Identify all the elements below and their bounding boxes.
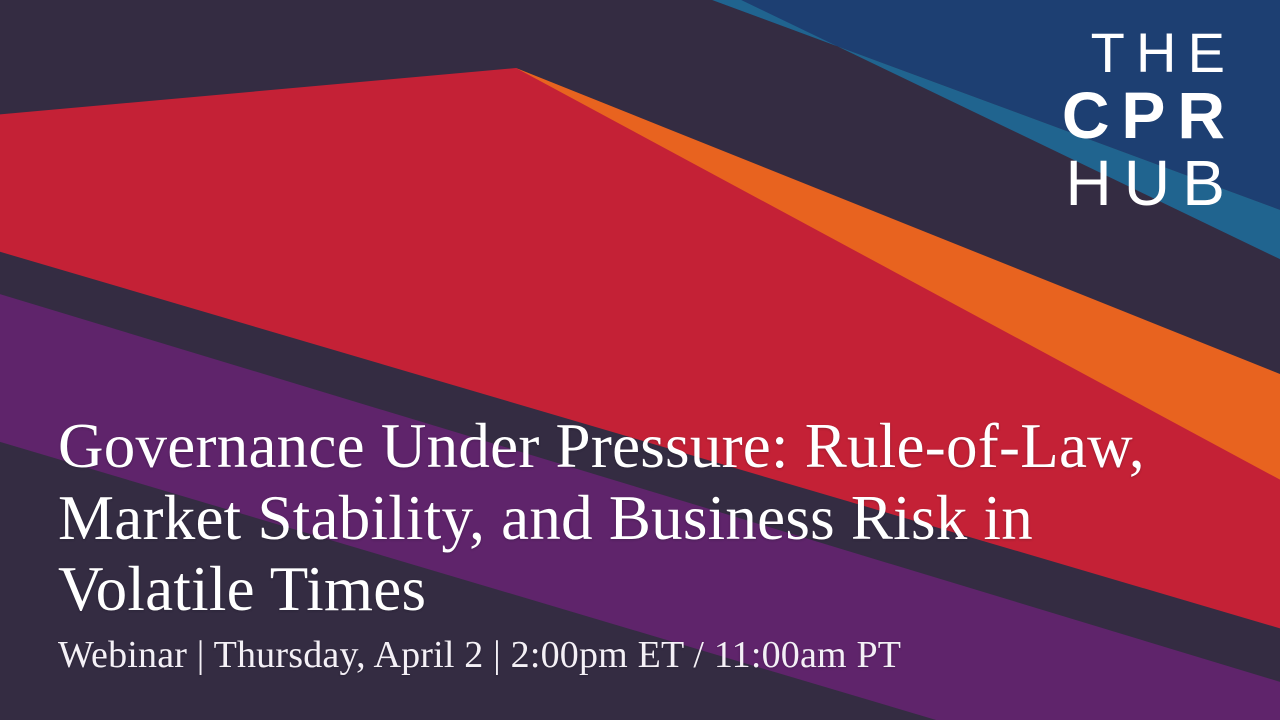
logo-line-the: THE bbox=[1062, 26, 1236, 81]
event-title: Governance Under Pressure: Rule-of-Law, … bbox=[58, 411, 1163, 626]
brand-logo: THE CPR HUB bbox=[1062, 26, 1225, 217]
webinar-promo-poster: THE CPR HUB Governance Under Pressure: R… bbox=[0, 0, 1280, 720]
logo-line-cpr: CPR bbox=[1062, 81, 1237, 150]
event-details-line: Webinar | Thursday, April 2 | 2:00pm ET … bbox=[58, 633, 1188, 678]
event-text-block: Governance Under Pressure: Rule-of-Law, … bbox=[58, 411, 1188, 678]
logo-line-hub: HUB bbox=[1062, 150, 1237, 217]
